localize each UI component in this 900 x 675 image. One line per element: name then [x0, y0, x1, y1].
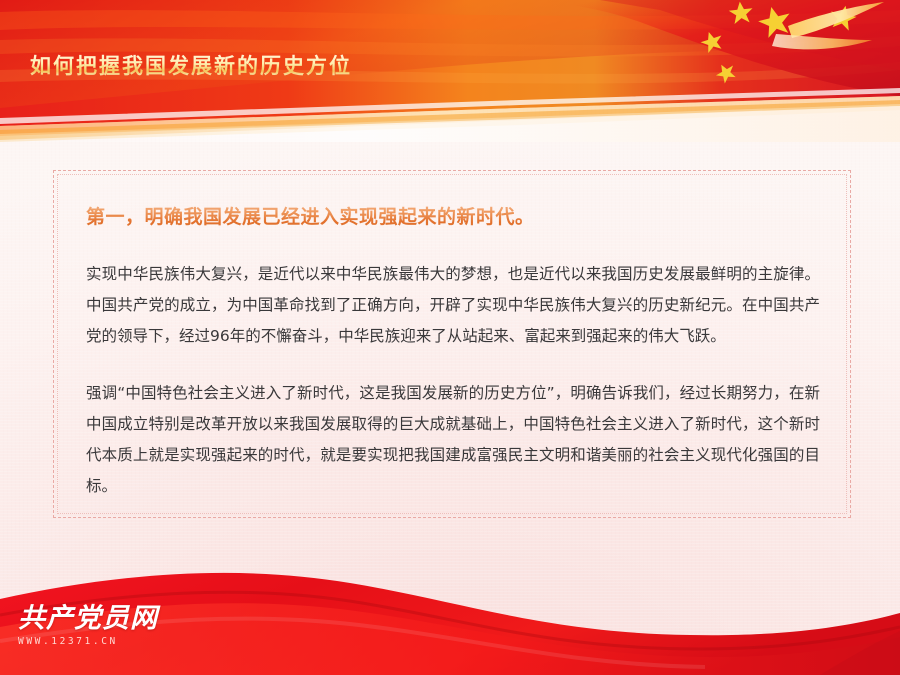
site-logo[interactable]: 共产党员网 WWW.12371.CN [18, 605, 188, 647]
logo-url: WWW.12371.CN [18, 636, 188, 647]
footer-banner: 共产党员网 WWW.12371.CN [0, 515, 900, 675]
poster-page: 如何把握我国发展新的历史方位 如何把握我国发展新的历史方位 第一，明确我国发展已… [0, 0, 900, 675]
content-panel: 第一，明确我国发展已经进入实现强起来的新时代。 实现中华民族伟大复兴，是近代以来… [53, 170, 851, 518]
header-banner: 如何把握我国发展新的历史方位 如何把握我国发展新的历史方位 [0, 0, 900, 142]
logo-wordmark: 共产党员网 [18, 605, 188, 633]
paragraph-1: 实现中华民族伟大复兴，是近代以来中华民族最伟大的梦想，也是近代以来我国历史发展最… [86, 259, 820, 352]
section-heading: 第一，明确我国发展已经进入实现强起来的新时代。 [86, 202, 535, 229]
header-title: 如何把握我国发展新的历史方位 [30, 50, 352, 80]
body-text: 实现中华民族伟大复兴，是近代以来中华民族最伟大的梦想，也是近代以来我国历史发展最… [86, 259, 820, 502]
paragraph-2: 强调“中国特色社会主义进入了新时代，这是我国发展新的历史方位”，明确告诉我们，经… [86, 378, 820, 502]
footer-graphic [0, 515, 900, 675]
